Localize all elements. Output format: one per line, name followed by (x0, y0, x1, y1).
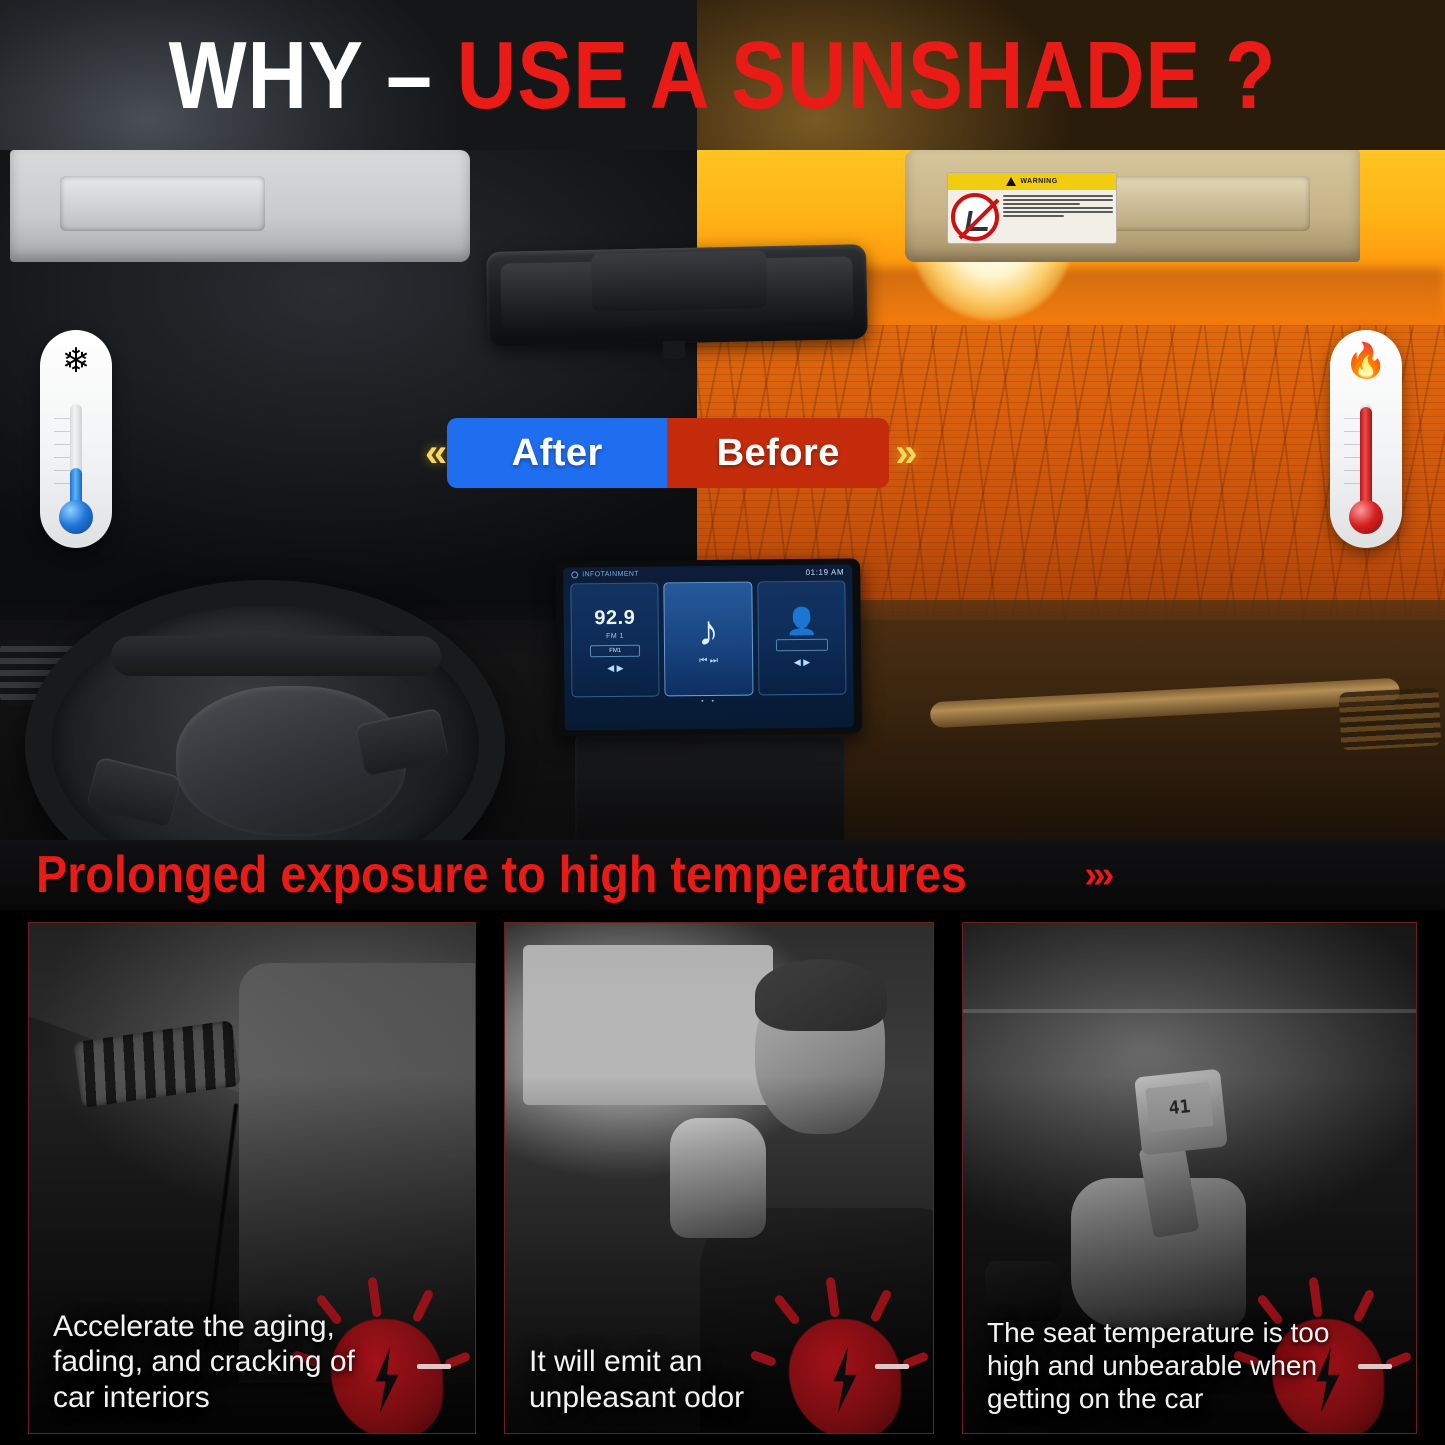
phone-controls[interactable]: ◀ ▶ (794, 657, 810, 668)
thermometer-cold: ❄ (40, 330, 112, 548)
before-after-badge: « After Before » (425, 418, 912, 488)
panel-aging: Accelerate the aging, fading, and cracki… (28, 922, 476, 1434)
brand-dot-icon (571, 571, 578, 578)
panel-caption: Accelerate the aging, fading, and cracki… (53, 1309, 389, 1415)
chevron-left-icon: « (425, 433, 441, 473)
panel-seat-temp: 41 The seat temperature is too high and … (962, 922, 1417, 1434)
thermometer-bulb-cold (59, 500, 93, 534)
visor-warning-label: WARNING (947, 172, 1117, 244)
after-label: After (447, 418, 667, 488)
radio-band: FM 1 (606, 632, 624, 639)
air-vent-right (1339, 687, 1442, 750)
infotainment-brand: INFOTAINMENT (571, 571, 639, 579)
thermometer-bulb-hot (1349, 500, 1383, 534)
steering-controls-left (86, 756, 182, 827)
page-title: WHY – USE A SUNSHADE ? (101, 28, 1344, 124)
thermometer-fill-hot (1360, 407, 1372, 514)
no-child-seat-icon (951, 193, 999, 241)
infotainment-unit: INFOTAINMENT 01:19 AM 92.9 FM 1 FM1 ◀ ▶ … (555, 558, 862, 736)
phone-card[interactable]: 👤 ◀ ▶ (757, 581, 847, 696)
warning-text-lines (1003, 193, 1113, 241)
warning-triangle-icon (1006, 177, 1016, 186)
sun-visor-left (10, 150, 470, 262)
thermometer-tube-hot (1360, 404, 1372, 514)
infotainment-cards: 92.9 FM 1 FM1 ◀ ▶ ♪ ⏮ ⏭ 👤 ◀ ▶ (563, 576, 853, 697)
headline-white: WHY – (169, 22, 457, 129)
mirror-clip-on-shade (591, 250, 767, 312)
before-label: Before (667, 418, 889, 488)
headline-red: USE A SUNSHADE ? (457, 22, 1277, 129)
promo-graphic: WARNING (0, 0, 1445, 1445)
chevron-triple-icon: ››› (1084, 854, 1110, 897)
thermometer-ticks-right (1344, 418, 1360, 500)
caption-underscore (1358, 1364, 1392, 1369)
radio-frequency: 92.9 (594, 606, 635, 629)
panel-odor: It will emit an unpleasant odor (504, 922, 934, 1434)
rearview-mirror (486, 244, 868, 347)
sun-visor-right: WARNING (905, 150, 1360, 262)
thermometer-ticks-left (54, 418, 70, 500)
thermometer-hot: 🔥 (1330, 330, 1402, 548)
panel-caption: The seat temperature is too high and unb… (987, 1316, 1352, 1415)
subheadline-text: Prolonged exposure to high temperatures (36, 845, 967, 905)
radio-controls[interactable]: ◀ ▶ (607, 662, 623, 673)
visor-mirror-left (60, 176, 265, 231)
subheadline-bar: Prolonged exposure to high temperatures … (0, 840, 1445, 910)
contact-bar (776, 639, 828, 652)
media-card[interactable]: ♪ ⏮ ⏭ (664, 582, 754, 697)
steering-wheel-spoke (111, 636, 441, 676)
warning-body (948, 190, 1116, 244)
media-controls[interactable]: ⏮ ⏭ (699, 655, 718, 666)
mirror-stem (663, 341, 685, 359)
child-seat-glyph (965, 211, 991, 231)
warning-header: WARNING (948, 173, 1116, 190)
snowflake-icon: ❄ (40, 344, 112, 378)
warning-title: WARNING (1020, 178, 1057, 185)
thermometer-tube-cold (70, 404, 82, 514)
music-note-icon: ♪ (698, 611, 719, 649)
infotainment-screen: INFOTAINMENT 01:19 AM 92.9 FM 1 FM1 ◀ ▶ … (563, 564, 854, 730)
radio-preset[interactable]: FM1 (590, 644, 640, 657)
caption-underscore (875, 1364, 909, 1369)
before-after-hero: WARNING (0, 0, 1445, 840)
flame-icon: 🔥 (1330, 344, 1402, 378)
center-console (575, 735, 845, 840)
chevron-right-icon: » (895, 433, 911, 473)
panel-caption: It will emit an unpleasant odor (529, 1344, 847, 1415)
person-icon: 👤 (785, 608, 818, 634)
infotainment-clock: 01:19 AM (806, 568, 845, 577)
visor-mirror-right (1105, 176, 1310, 231)
radio-card[interactable]: 92.9 FM 1 FM1 ◀ ▶ (570, 583, 660, 698)
caption-underscore (417, 1364, 451, 1369)
benefit-panels: Accelerate the aging, fading, and cracki… (0, 912, 1445, 1445)
brand-label: INFOTAINMENT (582, 571, 639, 579)
